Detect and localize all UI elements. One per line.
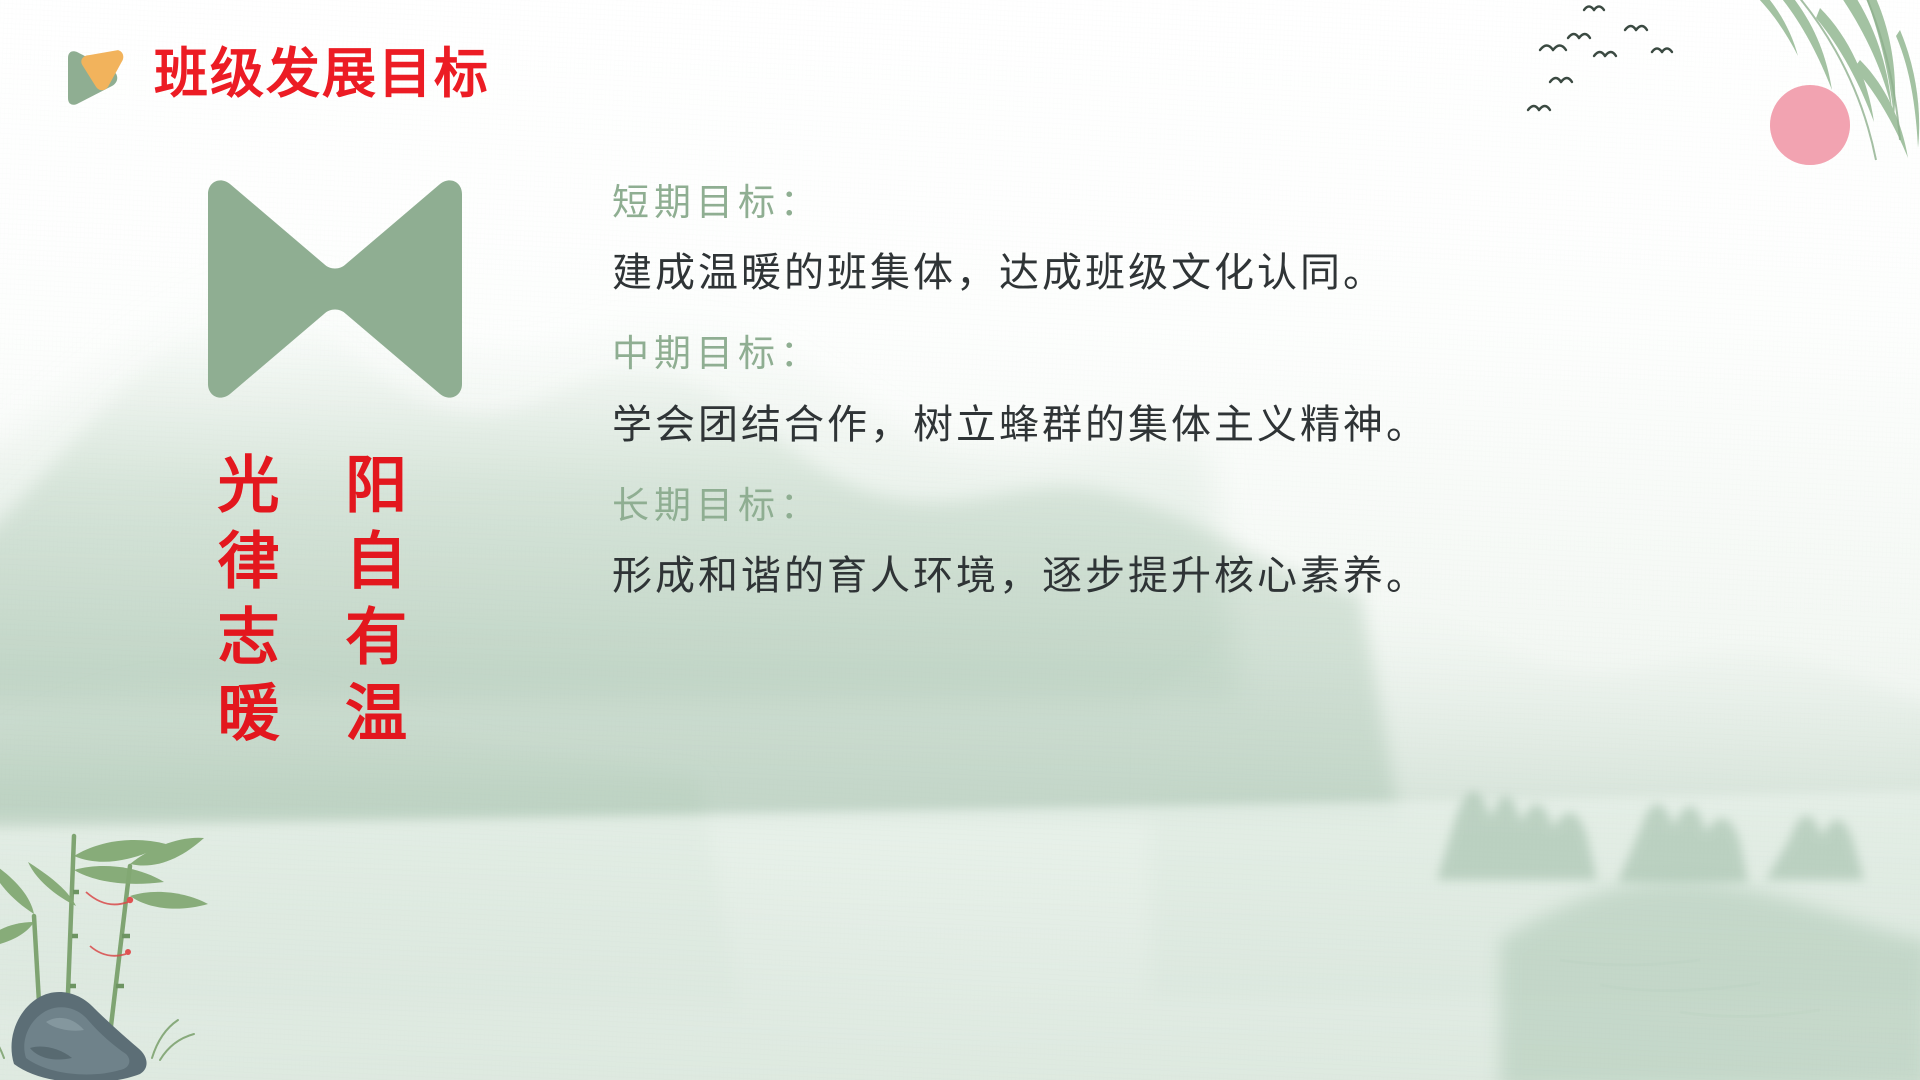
calligraphy-column-left: 光律志暖 (200, 452, 286, 756)
vertical-calligraphy: 阳自有温 光律志暖 (200, 452, 413, 756)
goal-item-short-term: 短期目标： 建成温暖的班集体，达成班级文化认同。 (612, 168, 1862, 309)
bamboo-and-rock-decoration (0, 796, 280, 1080)
bowtie-decorative-shape (190, 178, 480, 400)
goal-label-mid-term: 中期目标： (612, 319, 1862, 389)
calligraphy-column-right: 阳自有温 (328, 452, 414, 756)
goals-list: 短期目标： 建成温暖的班集体，达成班级文化认同。 中期目标： 学会团结合作，树立… (612, 168, 1862, 622)
goal-label-long-term: 长期目标： (612, 471, 1862, 541)
play-triangle-icon (60, 38, 132, 110)
goal-item-mid-term: 中期目标： 学会团结合作，树立蜂群的集体主义精神。 (612, 319, 1862, 460)
title-row: 班级发展目标 (60, 38, 490, 110)
slide-canvas: 班级发展目标 阳自有温 光律志暖 短期目标： 建成温暖的班集体，达成班级文化认同… (0, 0, 1920, 1080)
page-title: 班级发展目标 (154, 47, 490, 101)
goal-item-long-term: 长期目标： 形成和谐的育人环境，逐步提升核心素养。 (612, 471, 1862, 612)
goal-body-mid-term: 学会团结合作，树立蜂群的集体主义精神。 (612, 390, 1862, 461)
goal-body-short-term: 建成温暖的班集体，达成班级文化认同。 (612, 238, 1862, 309)
goal-body-long-term: 形成和谐的育人环境，逐步提升核心素养。 (612, 541, 1862, 612)
goal-label-short-term: 短期目标： (612, 168, 1862, 238)
